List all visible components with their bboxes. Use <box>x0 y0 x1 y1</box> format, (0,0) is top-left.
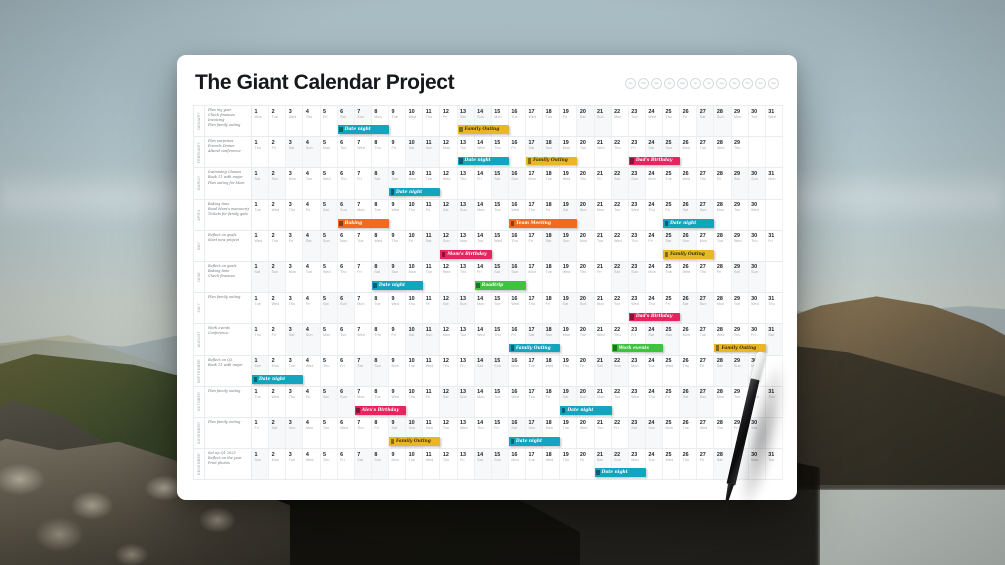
month-chip-nov[interactable]: Nov <box>755 78 766 89</box>
day-cell[interactable]: 30Sat <box>749 418 766 448</box>
day-cell[interactable]: 28Sat <box>714 449 731 479</box>
day-cell[interactable]: 21Sun <box>595 106 612 136</box>
day-cell[interactable]: 5Wed <box>321 168 338 198</box>
day-cell[interactable]: 20Thu <box>577 262 594 292</box>
day-cell[interactable]: 4Tue <box>303 262 320 292</box>
day-cell[interactable]: 11Sun <box>423 137 440 167</box>
day-cell[interactable]: 31Tue <box>766 449 783 479</box>
day-cell[interactable]: 16Wed <box>509 293 526 323</box>
day-cell[interactable]: 3Thu <box>286 293 303 323</box>
month-chip-may[interactable]: May <box>677 78 688 89</box>
day-cell[interactable]: 15Sun <box>492 449 509 479</box>
day-cell[interactable]: 10Fri <box>406 231 423 261</box>
day-cell[interactable]: 5Mon <box>321 324 338 354</box>
calendar-event[interactable]: Date night <box>458 157 509 166</box>
day-cell[interactable]: 13Sun <box>458 387 475 417</box>
day-cell[interactable]: 6Fri <box>338 449 355 479</box>
day-cell[interactable]: 21Mon <box>595 293 612 323</box>
month-chip-apr[interactable]: Apr <box>664 78 675 89</box>
day-cell[interactable]: 19Sun <box>560 231 577 261</box>
day-cell[interactable]: 2Mon <box>269 449 286 479</box>
day-cell[interactable]: 16Sun <box>509 168 526 198</box>
day-cell[interactable]: 21Fri <box>595 262 612 292</box>
calendar-grid[interactable]: JanuaryPlan my yearCheck financesInvoici… <box>193 105 783 480</box>
day-cell[interactable]: 13Fri <box>458 449 475 479</box>
day-cell[interactable]: 12Thu <box>440 356 457 386</box>
day-cell[interactable]: 14Sat <box>475 356 492 386</box>
day-cell[interactable]: 19Sat <box>560 293 577 323</box>
day-cell[interactable]: 10Thu <box>406 387 423 417</box>
day-cell[interactable]: 24Thu <box>646 200 663 230</box>
day-cell[interactable]: 2Fri <box>269 324 286 354</box>
day-cell[interactable]: 25Fri <box>663 387 680 417</box>
day-cell[interactable]: 9Mon <box>389 356 406 386</box>
day-cell[interactable]: 27Sun <box>697 293 714 323</box>
day-cell[interactable]: 10Sat <box>406 324 423 354</box>
day-cell[interactable]: 5Thu <box>321 449 338 479</box>
day-cell[interactable]: 14Mon <box>475 293 492 323</box>
day-cell[interactable]: 11Tue <box>423 262 440 292</box>
day-cell[interactable]: 25Mon <box>663 418 680 448</box>
day-cell[interactable]: 29Tue <box>732 387 749 417</box>
day-cell[interactable]: 19Tue <box>560 418 577 448</box>
day-cell[interactable]: 28Thu <box>714 418 731 448</box>
day-cell[interactable]: 14Sat <box>475 449 492 479</box>
month-chip-jul[interactable]: Jul <box>703 78 714 89</box>
day-cell[interactable]: 7Tue <box>355 231 372 261</box>
day-cell[interactable]: 1Tue <box>252 293 269 323</box>
month-notes[interactable]: Reflect on goalsBaking timeCheck finance… <box>205 262 252 292</box>
day-cell[interactable]: 29Sat <box>732 168 749 198</box>
day-cell[interactable]: 13Sun <box>458 200 475 230</box>
day-cell[interactable]: 31Fri <box>766 231 783 261</box>
day-cell[interactable]: 20Sat <box>577 106 594 136</box>
day-cell[interactable]: 28Tue <box>714 231 731 261</box>
day-cell[interactable]: 2Fri <box>269 137 286 167</box>
day-cell[interactable]: 26Wed <box>680 168 697 198</box>
day-cell[interactable]: 26Thu <box>680 356 697 386</box>
day-cell[interactable]: 11Wed <box>423 356 440 386</box>
calendar-event[interactable]: Family Outing <box>714 344 765 353</box>
day-cell[interactable]: 3Wed <box>286 106 303 136</box>
calendar-event[interactable]: Family Outing <box>389 437 440 446</box>
day-cell[interactable]: 10Thu <box>406 293 423 323</box>
day-cell[interactable]: 20Fri <box>577 449 594 479</box>
calendar-event[interactable]: Date night <box>338 125 389 134</box>
day-cell[interactable]: 11Fri <box>423 293 440 323</box>
day-cell[interactable]: 29Thu <box>732 137 749 167</box>
day-cell[interactable]: 5Sun <box>321 231 338 261</box>
day-cell[interactable]: 23Wed <box>629 387 646 417</box>
day-cell[interactable]: 27Sun <box>697 387 714 417</box>
day-cell[interactable]: 23Sun <box>629 168 646 198</box>
day-cell[interactable]: 6Tue <box>338 324 355 354</box>
day-cell[interactable]: 5Sat <box>321 293 338 323</box>
day-cell[interactable]: 11Sun <box>423 324 440 354</box>
day-cell[interactable]: 19Wed <box>560 262 577 292</box>
month-notes[interactable]: Plan family outing <box>205 418 252 448</box>
day-cell[interactable]: 11Sat <box>423 231 440 261</box>
month-notes[interactable]: Plan my yearCheck financesInvoicingPlan … <box>205 106 252 136</box>
day-cell[interactable]: 15Sun <box>492 356 509 386</box>
day-cell[interactable]: 1Tue <box>252 387 269 417</box>
calendar-event[interactable]: Date night <box>663 219 714 228</box>
day-cell[interactable]: 31Thu <box>766 293 783 323</box>
day-cell[interactable]: 24Tue <box>646 449 663 479</box>
day-cell[interactable]: 9Fri <box>389 137 406 167</box>
calendar-event[interactable]: Date night <box>252 375 303 384</box>
day-cell[interactable]: 23Mon <box>629 356 646 386</box>
day-cell[interactable]: 25Tue <box>663 262 680 292</box>
month-chip-aug[interactable]: Aug <box>716 78 727 89</box>
day-cell[interactable]: 21Fri <box>595 168 612 198</box>
day-cell[interactable]: 28Mon <box>714 200 731 230</box>
day-cell[interactable]: 18Fri <box>543 293 560 323</box>
day-cell[interactable]: 17Tue <box>526 356 543 386</box>
day-cell[interactable]: 14Mon <box>475 387 492 417</box>
month-notes[interactable]: Work eventsConference <box>205 324 252 354</box>
day-cell[interactable]: 10Thu <box>406 200 423 230</box>
day-cell[interactable]: 6Fri <box>338 356 355 386</box>
day-cell[interactable]: 14Thu <box>475 418 492 448</box>
day-cell[interactable]: 4Sat <box>303 231 320 261</box>
day-cell[interactable]: 7Wed <box>355 324 372 354</box>
calendar-event[interactable]: Team Meeting <box>509 219 578 228</box>
day-cell[interactable]: 24Thu <box>646 387 663 417</box>
day-cell[interactable]: 27Fri <box>697 356 714 386</box>
day-cell[interactable]: 20Sun <box>577 200 594 230</box>
day-cell[interactable]: 9Tue <box>389 106 406 136</box>
day-cell[interactable]: 22Wed <box>612 231 629 261</box>
day-cell[interactable]: 25Wed <box>663 356 680 386</box>
day-cell[interactable]: 26Fri <box>680 106 697 136</box>
calendar-event[interactable]: Date night <box>509 437 560 446</box>
day-cell[interactable]: 27Fri <box>697 449 714 479</box>
calendar-event[interactable]: Mom's Birthday <box>440 250 491 259</box>
day-cell[interactable]: 15Wed <box>492 231 509 261</box>
day-cell[interactable]: 12Tue <box>440 418 457 448</box>
day-cell[interactable]: 18Sat <box>543 231 560 261</box>
day-cell[interactable]: 6Wed <box>338 418 355 448</box>
day-cell[interactable]: 12Wed <box>440 168 457 198</box>
month-notes[interactable]: Swimming ClassesBook 11 with majorPlan o… <box>205 168 252 198</box>
calendar-event[interactable]: Date night <box>595 468 646 477</box>
day-cell[interactable]: 1Thu <box>252 137 269 167</box>
day-cell[interactable]: 15Sat <box>492 168 509 198</box>
day-cell[interactable]: 12Thu <box>440 449 457 479</box>
month-chip-oct[interactable]: Oct <box>742 78 753 89</box>
day-cell[interactable]: 8Sat <box>372 168 389 198</box>
day-cell[interactable]: 2Sun <box>269 262 286 292</box>
day-cell[interactable]: 14Fri <box>475 168 492 198</box>
day-cell[interactable]: 10Tue <box>406 449 423 479</box>
month-chip-jun[interactable]: Jun <box>690 78 701 89</box>
day-cell[interactable]: 13Fri <box>458 356 475 386</box>
day-cell[interactable]: 4Fri <box>303 200 320 230</box>
day-cell[interactable]: 4Wed <box>303 449 320 479</box>
day-cell[interactable]: 7Fri <box>355 168 372 198</box>
day-cell[interactable]: 2Sat <box>269 418 286 448</box>
day-cell[interactable]: 21Wed <box>595 137 612 167</box>
day-cell[interactable]: 15Fri <box>492 418 509 448</box>
day-cell[interactable]: 9Wed <box>389 293 406 323</box>
day-cell[interactable]: 28Fri <box>714 262 731 292</box>
day-cell[interactable]: 1Sat <box>252 168 269 198</box>
month-chip-dec[interactable]: Dec <box>768 78 779 89</box>
month-chip-feb[interactable]: Feb <box>638 78 649 89</box>
day-cell[interactable]: 2Wed <box>269 387 286 417</box>
day-cell[interactable]: 8Fri <box>372 418 389 448</box>
calendar-event[interactable]: Dad's Birthday <box>629 313 680 322</box>
day-cell[interactable]: 5Sat <box>321 200 338 230</box>
day-cell[interactable]: 27Thu <box>697 168 714 198</box>
day-cell[interactable]: 25Sun <box>663 324 680 354</box>
day-cell[interactable]: 7Wed <box>355 137 372 167</box>
day-cell[interactable]: 7Thu <box>355 418 372 448</box>
day-cell[interactable]: 7Mon <box>355 293 372 323</box>
day-cell[interactable]: 18Wed <box>543 449 560 479</box>
day-cell[interactable]: 30Wed <box>749 387 766 417</box>
day-cell[interactable]: 24Mon <box>646 262 663 292</box>
month-notes[interactable]: Baking timeRead Mom's manuscriptTickets … <box>205 200 252 230</box>
day-cell[interactable]: 28Wed <box>714 137 731 167</box>
day-cell[interactable]: 19Thu <box>560 449 577 479</box>
day-cell[interactable]: 9Wed <box>389 200 406 230</box>
calendar-event[interactable]: Date night <box>389 188 440 197</box>
day-cell[interactable]: 3Sat <box>286 137 303 167</box>
day-cell[interactable]: 12Wed <box>440 262 457 292</box>
calendar-event[interactable]: Date night <box>560 406 611 415</box>
month-notes[interactable]: Plan family outing <box>205 387 252 417</box>
day-cell[interactable]: 4Fri <box>303 387 320 417</box>
day-cell[interactable]: 21Thu <box>595 418 612 448</box>
day-cell[interactable]: 1Wed <box>252 231 269 261</box>
day-cell[interactable]: 13Sun <box>458 293 475 323</box>
day-cell[interactable]: 24Sun <box>646 418 663 448</box>
day-cell[interactable]: 17Wed <box>526 106 543 136</box>
day-cell[interactable]: 4Sun <box>303 137 320 167</box>
month-chip-sep[interactable]: Sep <box>729 78 740 89</box>
day-cell[interactable]: 19Wed <box>560 168 577 198</box>
day-cell[interactable]: 29Tue <box>732 293 749 323</box>
day-cell[interactable]: 22Thu <box>612 137 629 167</box>
day-cell[interactable]: 30Mon <box>749 356 766 386</box>
day-cell[interactable]: 2Wed <box>269 200 286 230</box>
day-cell[interactable]: 26Wed <box>680 262 697 292</box>
day-cell[interactable]: 5Wed <box>321 262 338 292</box>
calendar-event[interactable]: Date night <box>372 281 423 290</box>
day-cell[interactable]: 13Wed <box>458 418 475 448</box>
month-notes[interactable]: Reflect on Q3Book 11 with major <box>205 356 252 386</box>
day-cell[interactable]: 23Wed <box>629 200 646 230</box>
day-cell[interactable]: 25Tue <box>663 168 680 198</box>
day-cell[interactable]: 17Thu <box>526 387 543 417</box>
day-cell[interactable]: 7Sat <box>355 356 372 386</box>
day-cell[interactable]: 19Fri <box>560 106 577 136</box>
day-cell[interactable]: 15Tue <box>492 200 509 230</box>
day-cell[interactable]: 17Fri <box>526 231 543 261</box>
day-cell[interactable]: 20Mon <box>577 231 594 261</box>
day-cell[interactable]: 16Mon <box>509 356 526 386</box>
day-cell[interactable]: 13Tue <box>458 324 475 354</box>
day-cell[interactable]: 20Sun <box>577 293 594 323</box>
day-cell[interactable]: 3Mon <box>286 168 303 198</box>
day-cell[interactable]: 23Sun <box>629 262 646 292</box>
day-cell[interactable]: 12Mon <box>440 137 457 167</box>
day-cell[interactable]: 20Thu <box>577 168 594 198</box>
day-cell[interactable]: 28Mon <box>714 293 731 323</box>
day-cell[interactable]: 8Thu <box>372 137 389 167</box>
day-cell[interactable]: 2Wed <box>269 293 286 323</box>
day-cell[interactable]: 28Sun <box>714 106 731 136</box>
day-cell[interactable]: 1Mon <box>252 106 269 136</box>
day-cell[interactable]: 16Wed <box>509 387 526 417</box>
day-cell[interactable]: 1Sun <box>252 449 269 479</box>
day-cell[interactable]: 27Tue <box>697 324 714 354</box>
day-cell[interactable]: 18Tue <box>543 262 560 292</box>
day-cell[interactable]: 16Thu <box>509 231 526 261</box>
day-cell[interactable]: 18Tue <box>543 168 560 198</box>
day-cell[interactable]: 26Sat <box>680 293 697 323</box>
day-cell[interactable]: 22Tue <box>612 293 629 323</box>
day-cell[interactable]: 8Tue <box>372 293 389 323</box>
day-cell[interactable]: 7Fri <box>355 262 372 292</box>
day-cell[interactable]: 8Sun <box>372 356 389 386</box>
day-cell[interactable]: 26Mon <box>680 137 697 167</box>
day-cell[interactable]: 11Thu <box>423 106 440 136</box>
day-cell[interactable]: 1Thu <box>252 324 269 354</box>
day-cell[interactable]: 6Thu <box>338 262 355 292</box>
day-cell[interactable]: 3Mon <box>286 262 303 292</box>
day-cell[interactable]: 16Mon <box>509 449 526 479</box>
day-cell[interactable]: 20Wed <box>577 418 594 448</box>
day-cell[interactable]: 21Tue <box>595 231 612 261</box>
day-cell[interactable]: 19Mon <box>560 324 577 354</box>
calendar-event[interactable]: Family Outing <box>458 125 509 134</box>
day-cell[interactable]: 12Sat <box>440 387 457 417</box>
day-cell[interactable]: 1Tue <box>252 200 269 230</box>
month-notes[interactable]: Reflect on goalsStart new project <box>205 231 252 261</box>
day-cell[interactable]: 5Mon <box>321 137 338 167</box>
day-cell[interactable]: 4Sun <box>303 324 320 354</box>
day-cell[interactable]: 18Thu <box>543 106 560 136</box>
day-cell[interactable]: 30Thu <box>749 231 766 261</box>
day-cell[interactable]: 15Tue <box>492 387 509 417</box>
day-cell[interactable]: 16Tue <box>509 106 526 136</box>
day-cell[interactable]: 21Mon <box>595 200 612 230</box>
day-cell[interactable]: 29Sat <box>732 262 749 292</box>
calendar-event[interactable]: Work events <box>612 344 663 353</box>
day-cell[interactable]: 29Mon <box>732 106 749 136</box>
day-cell[interactable]: 27Sat <box>697 106 714 136</box>
day-cell[interactable]: 10Tue <box>406 356 423 386</box>
day-cell[interactable]: 31Mon <box>766 168 783 198</box>
day-cell[interactable]: 10Sat <box>406 137 423 167</box>
calendar-event[interactable]: Dad's Birthday <box>629 157 680 166</box>
day-cell[interactable]: 6Thu <box>338 168 355 198</box>
day-cell[interactable]: 23Sat <box>629 418 646 448</box>
day-cell[interactable]: 23Thu <box>629 231 646 261</box>
day-cell[interactable]: 6Mon <box>338 231 355 261</box>
day-cell[interactable]: 27Wed <box>697 418 714 448</box>
day-cell[interactable]: 22Tue <box>612 200 629 230</box>
day-cell[interactable]: 3Tue <box>286 449 303 479</box>
day-cell[interactable]: 22Mon <box>612 106 629 136</box>
day-cell[interactable]: 3Thu <box>286 387 303 417</box>
day-cell[interactable]: 30Wed <box>749 293 766 323</box>
day-cell[interactable]: 5Fri <box>321 106 338 136</box>
day-cell[interactable]: 16Fri <box>509 137 526 167</box>
month-notes[interactable]: Set up Q1 2025Reflect on the yearPrint p… <box>205 449 252 479</box>
day-cell[interactable]: 4Tue <box>303 168 320 198</box>
day-cell[interactable]: 3Sat <box>286 324 303 354</box>
day-cell[interactable]: 22Tue <box>612 387 629 417</box>
day-cell[interactable]: 26Sat <box>680 387 697 417</box>
day-cell[interactable]: 20Tue <box>577 324 594 354</box>
day-cell[interactable]: 12Sat <box>440 200 457 230</box>
day-cell[interactable]: 8Thu <box>372 324 389 354</box>
day-cell[interactable]: 31Wed <box>766 106 783 136</box>
day-cell[interactable]: 8Wed <box>372 231 389 261</box>
day-cell[interactable]: 30Wed <box>749 200 766 230</box>
day-cell[interactable]: 7Sat <box>355 449 372 479</box>
day-cell[interactable]: 24Wed <box>646 106 663 136</box>
day-cell[interactable]: 20Tue <box>577 137 594 167</box>
day-cell[interactable]: 22Sat <box>612 168 629 198</box>
day-cell[interactable]: 22Sat <box>612 262 629 292</box>
day-cell[interactable]: 11Wed <box>423 449 440 479</box>
month-chip-jan[interactable]: Jan <box>625 78 636 89</box>
day-cell[interactable]: 24Fri <box>646 231 663 261</box>
day-cell[interactable]: 30Tue <box>749 106 766 136</box>
day-cell[interactable]: 1Fri <box>252 418 269 448</box>
day-cell[interactable]: 24Mon <box>646 168 663 198</box>
day-cell[interactable]: 2Thu <box>269 231 286 261</box>
day-cell[interactable]: 15Tue <box>492 293 509 323</box>
day-cell[interactable]: 8Sun <box>372 449 389 479</box>
day-cell[interactable]: 4Wed <box>303 356 320 386</box>
day-cell[interactable]: 3Sun <box>286 418 303 448</box>
day-cell[interactable]: 5Thu <box>321 356 338 386</box>
day-cell[interactable]: 6Tue <box>338 137 355 167</box>
day-cell[interactable]: 3Fri <box>286 231 303 261</box>
day-cell[interactable]: 9Thu <box>389 231 406 261</box>
day-cell[interactable]: 26Tue <box>680 418 697 448</box>
day-cell[interactable]: 29Wed <box>732 231 749 261</box>
day-cell[interactable]: 17Mon <box>526 262 543 292</box>
day-cell[interactable]: 4Fri <box>303 293 320 323</box>
month-notes[interactable]: Plan family outing <box>205 293 252 323</box>
day-cell[interactable]: 30Mon <box>749 449 766 479</box>
day-cell[interactable]: 2Sun <box>269 168 286 198</box>
day-cell[interactable]: 25Thu <box>663 106 680 136</box>
month-notes[interactable]: Plan surprisesFriends DinnerAttend confe… <box>205 137 252 167</box>
day-cell[interactable]: 29Fri <box>732 418 749 448</box>
day-cell[interactable]: 15Thu <box>492 324 509 354</box>
day-cell[interactable]: 21Wed <box>595 324 612 354</box>
day-cell[interactable]: 25Wed <box>663 449 680 479</box>
day-cell[interactable]: 19Thu <box>560 356 577 386</box>
calendar-event[interactable]: Alex's Birthday <box>355 406 406 415</box>
day-cell[interactable]: 2Tue <box>269 106 286 136</box>
day-cell[interactable]: 26Thu <box>680 449 697 479</box>
day-cell[interactable]: 29Sun <box>732 356 749 386</box>
day-cell[interactable]: 30Sun <box>749 168 766 198</box>
day-cell[interactable]: 4Thu <box>303 106 320 136</box>
day-cell[interactable]: 28Fri <box>714 168 731 198</box>
calendar-event[interactable]: Roadtrip <box>475 281 526 290</box>
day-cell[interactable]: 4Mon <box>303 418 320 448</box>
